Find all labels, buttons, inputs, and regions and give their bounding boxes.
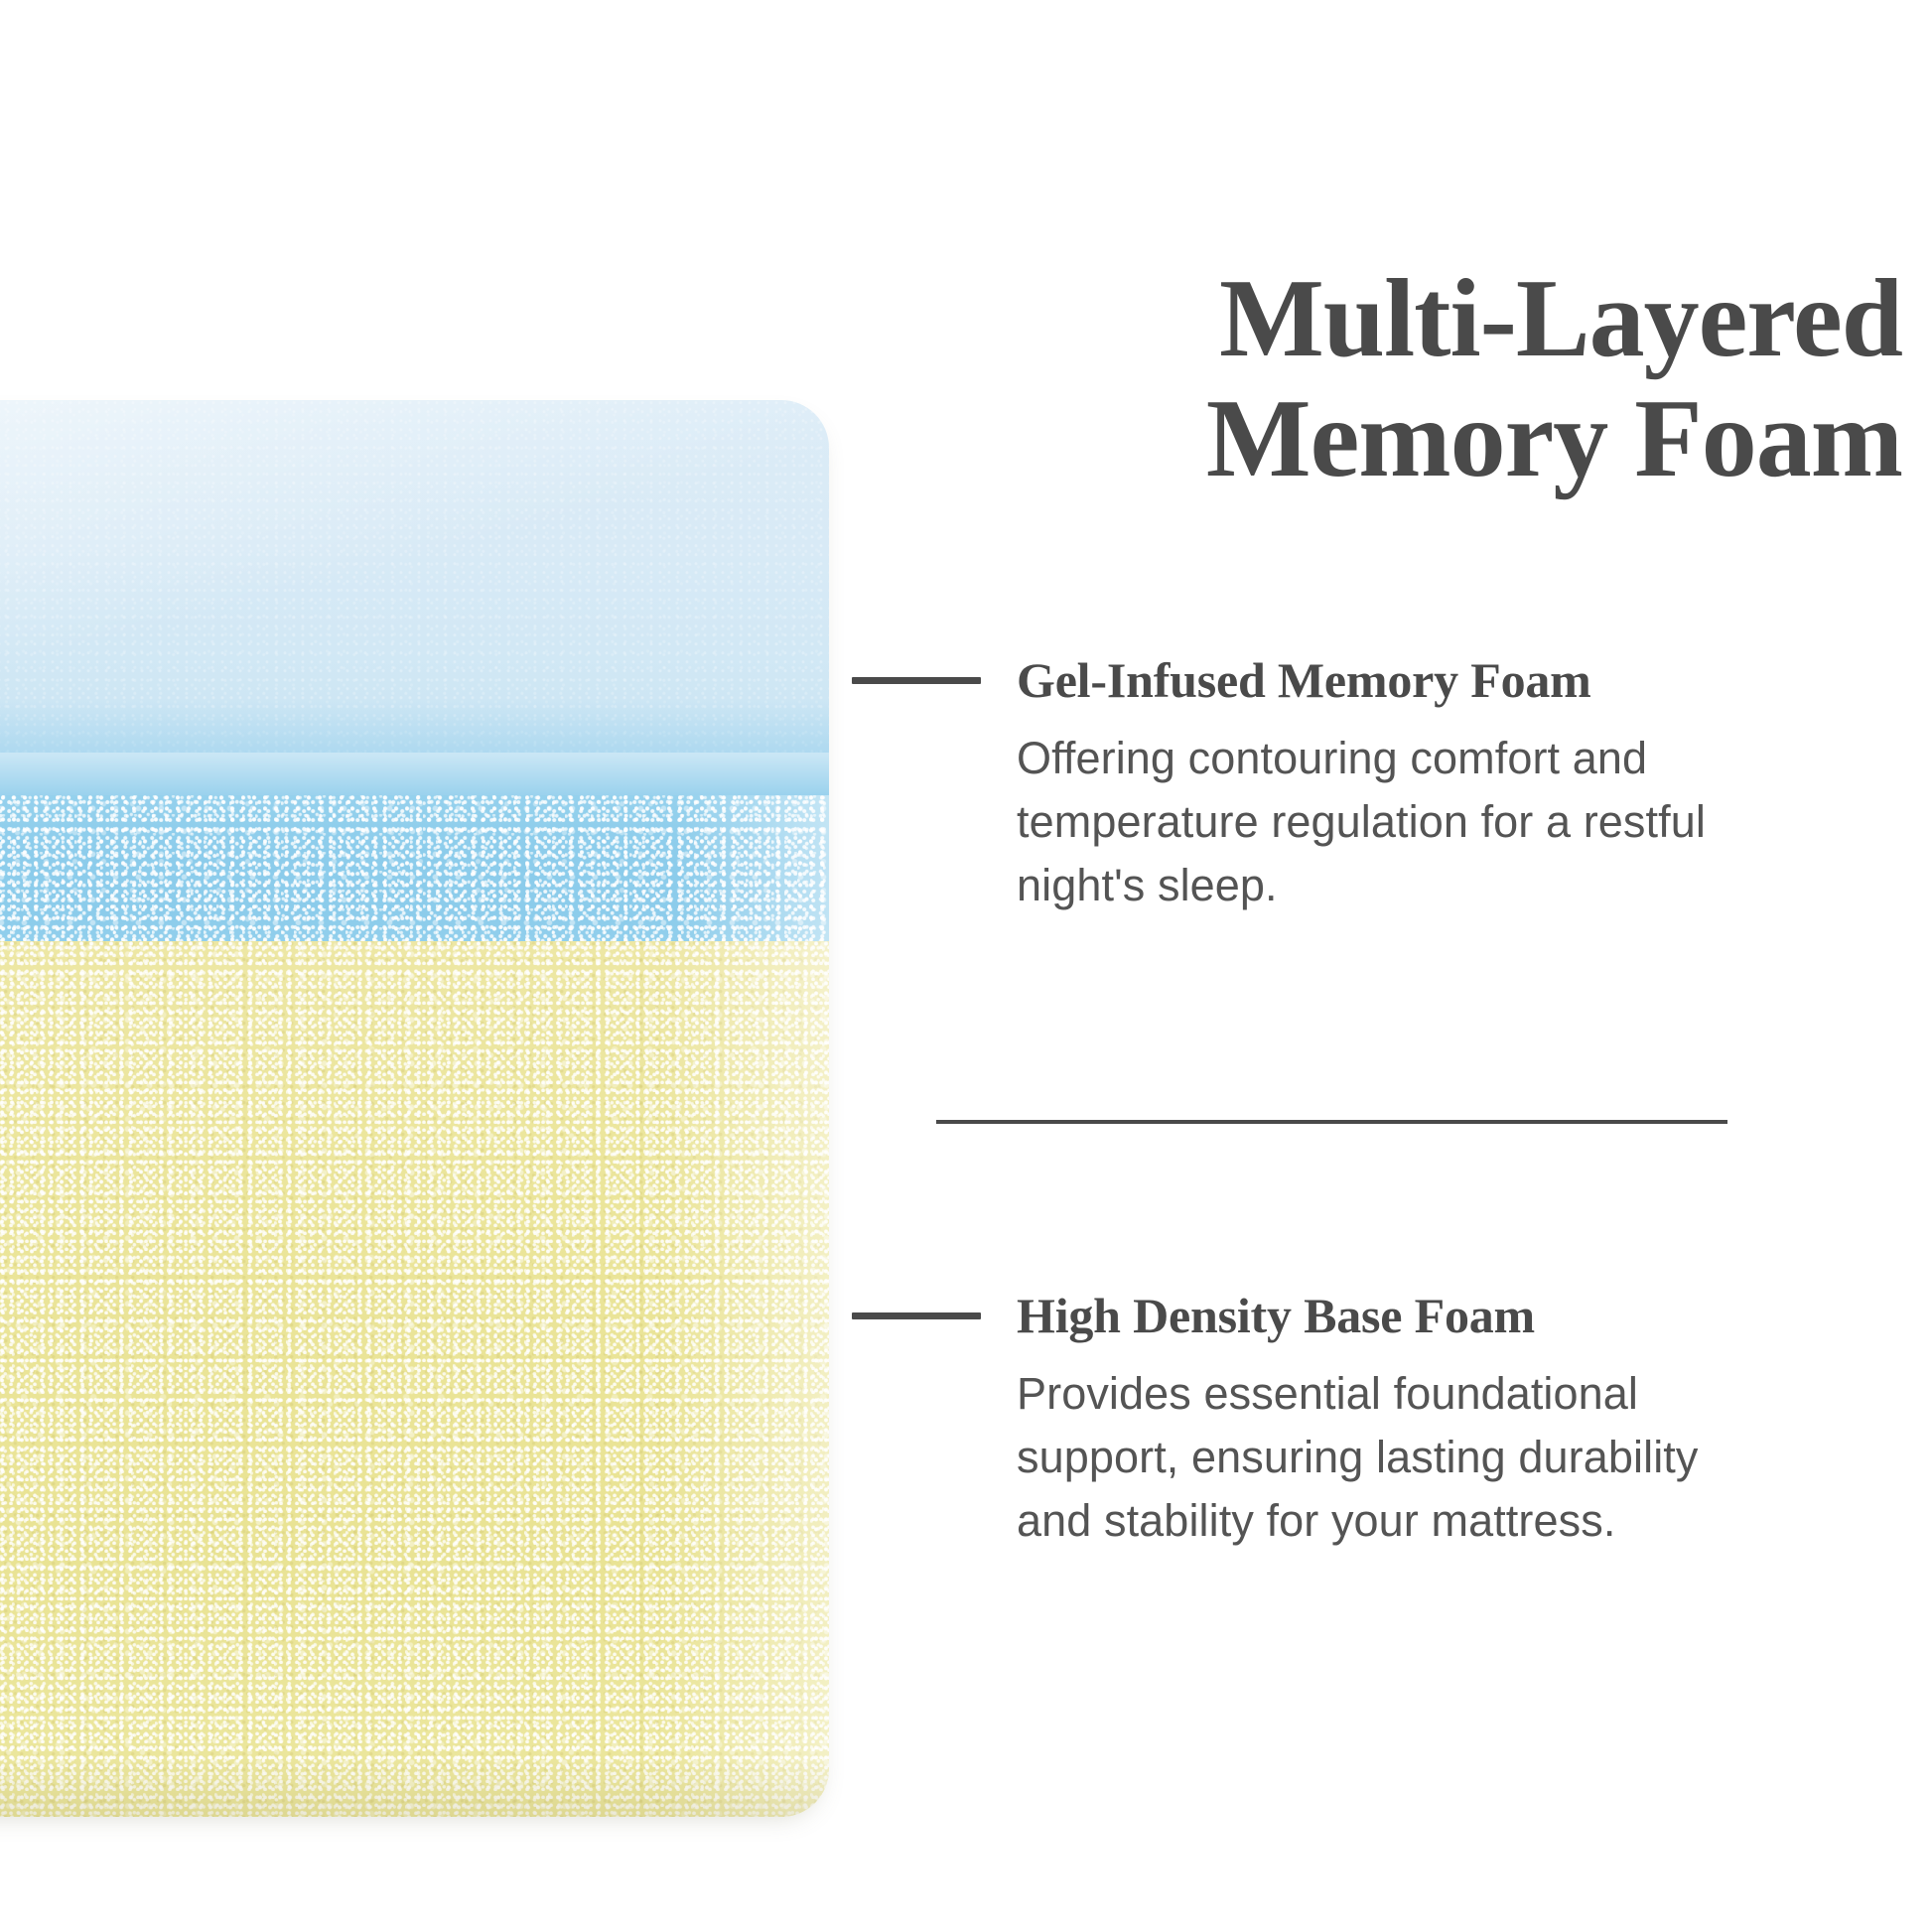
callout-base-title: High Density Base Foam: [1017, 1291, 1535, 1340]
gel-layer-side-face: [0, 795, 829, 949]
base-layer-side-face: [0, 941, 829, 1817]
callout-gel-description: Offering contouring comfort and temperat…: [1017, 727, 1731, 917]
gel-layer-fade: [0, 698, 829, 807]
callout-gel-title: Gel-Infused Memory Foam: [1017, 655, 1591, 705]
page-title-line-1: Multi-Layered: [790, 259, 1902, 379]
callout-gel-header: Gel-Infused Memory Foam: [852, 655, 1904, 705]
foam-block-image: [0, 400, 829, 1817]
page-title: Multi-Layered Memory Foam: [790, 259, 1902, 499]
dash-marker-icon: [852, 1312, 981, 1319]
page-title-line-2: Memory Foam: [790, 379, 1902, 499]
callout-gel-infused-memory-foam: Gel-Infused Memory Foam Offering contour…: [852, 655, 1904, 962]
callout-base-description: Provides essential foundational support,…: [1017, 1362, 1771, 1553]
section-divider: [936, 1120, 1727, 1124]
dash-marker-icon: [852, 677, 981, 684]
callout-base-header: High Density Base Foam: [852, 1291, 1904, 1340]
callout-high-density-base-foam: High Density Base Foam Provides essentia…: [852, 1291, 1904, 1597]
